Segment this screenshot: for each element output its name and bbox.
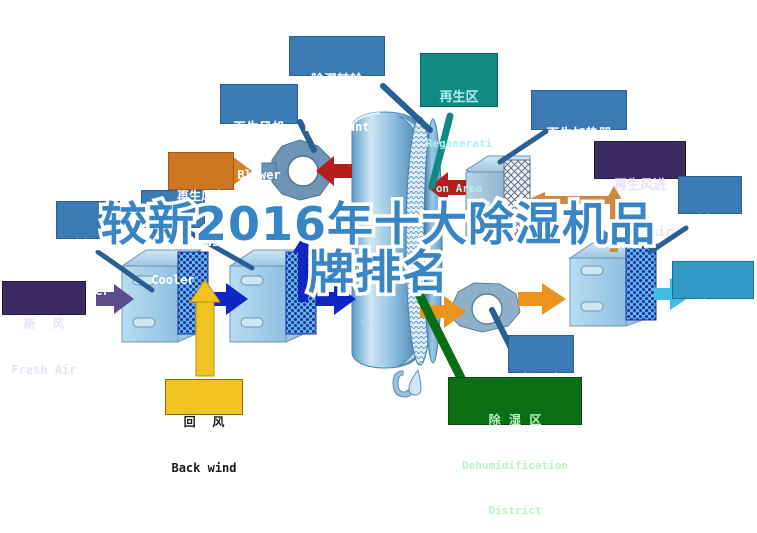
condensate-drop-icon: [393, 370, 421, 397]
label-dehum-district-cn: 除 湿 区: [449, 414, 581, 427]
label-dehum-district-en1: Dehumidification: [449, 460, 581, 472]
label-dehumidification-district[interactable]: 除 湿 区 Dehumidification District: [448, 377, 582, 425]
label-dehum-blower[interactable]: 除湿风机 Blower: [508, 335, 574, 373]
label-regen-blower[interactable]: 再生风机 Blower: [220, 84, 298, 124]
process-air-arrow: [316, 283, 356, 315]
label-desiccant-wheel[interactable]: 除湿转轮 Desiccant: [289, 36, 385, 76]
label-cooler-right[interactable]: 冷却器 Cooler: [678, 176, 742, 214]
label-regeneration-area[interactable]: 再生区 Regenerati on Area: [420, 53, 498, 107]
label-air-supply-cn: 送 风: [673, 299, 753, 312]
label-air-supply-en: Air Supply: [673, 345, 753, 358]
label-desiccant-wheel-cn: 除湿转轮: [290, 74, 384, 88]
diagram-canvas: 较新2016年十大除湿机品 牌排名 较新2016年十大除湿机品 牌排名 xt 除…: [0, 0, 757, 488]
label-back-wind[interactable]: 回 风 Back wind: [165, 379, 243, 415]
label-regeneration-area-en1: Regenerati: [421, 138, 497, 150]
label-regeneration-area-cn: 再生区: [421, 91, 497, 105]
label-regen-fresh-air[interactable]: 再生风进 Fresh Air: [594, 141, 686, 179]
label-exhaust[interactable]: 再生风出 Exhaust: [168, 152, 234, 190]
label-regen-heater-cn: 再生加热器: [532, 128, 626, 142]
label-cooler-right-cn: 冷却器: [679, 214, 741, 227]
label-back-wind-en: Back wind: [166, 462, 242, 475]
label-exhaust-cn: 再生风出: [169, 190, 233, 203]
label-exhaust-en: Exhaust: [169, 236, 233, 249]
label-fresh-air-in-cn: 新 风: [3, 318, 85, 331]
label-regen-blower-cn: 再生风机: [221, 122, 297, 136]
label-back-wind-cn: 回 风: [166, 416, 242, 429]
dehumidified-air-arrow: [518, 283, 566, 315]
dehumidification-blower: [452, 283, 520, 332]
label-dehum-district-en2: District: [449, 505, 581, 517]
label-fresh-air-in-en: Fresh Air: [3, 364, 85, 377]
label-regen-heater[interactable]: 再生加热器 heater: [531, 90, 627, 130]
label-fresh-air-in[interactable]: 新 风 Fresh Air: [2, 281, 86, 315]
label-cooler-left-cn: 冷却器: [57, 239, 119, 252]
label-cooler-left[interactable]: 冷却器 Cooler: [56, 201, 120, 239]
label-air-supply[interactable]: 送 风 Air Supply: [672, 261, 754, 299]
label-regen-fresh-air-en: Fresh Air: [595, 226, 685, 239]
label-desiccant-wheel-en: Desiccant: [290, 121, 384, 134]
label-cooler-mid-en: Cooler: [142, 274, 204, 287]
label-regen-fresh-air-cn: 再生风进: [595, 179, 685, 193]
label-regeneration-area-en2: on Area: [421, 183, 497, 195]
